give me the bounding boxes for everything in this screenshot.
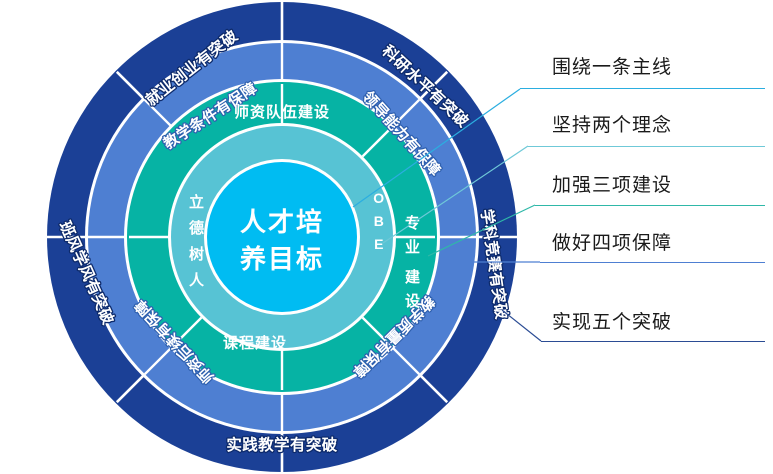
lideshuren-c1: 立 (189, 193, 205, 211)
legend-item-5[interactable]: 实现五个突破 (552, 307, 672, 334)
teal-label-faculty[interactable]: 师资队伍建设 (234, 103, 330, 121)
legend-rule-4 (540, 262, 765, 263)
obe-c3: E (374, 236, 384, 252)
legend-item-4[interactable]: 做好四项保障 (552, 228, 672, 255)
core-title-line2: 养目标 (239, 244, 324, 274)
legend-rule-2 (528, 146, 765, 147)
lideshuren-c4: 人 (189, 272, 205, 289)
obe-c2: B (374, 213, 385, 229)
core-circle-group (204, 159, 360, 315)
infographic-canvas: 就业创业有突破 科研水平有突破 学科竞赛有突破 实践教学有突破 班风学风有突破 (0, 0, 773, 474)
legend-item-3[interactable]: 加强三项建设 (552, 170, 672, 197)
leader-line-5 (502, 310, 541, 341)
lideshuren-c2: 德 (189, 219, 205, 237)
teal-label-major-c2: 业 (405, 239, 421, 256)
outer-label-practice[interactable]: 实践教学有突破 (226, 435, 337, 454)
legend-rule-5 (541, 341, 765, 342)
obe-c1: O (373, 190, 384, 206)
legend-rule-1 (520, 88, 765, 89)
teal-label-curriculum-text[interactable]: 课程建设 (223, 334, 287, 352)
core-title-line1: 人才培 (240, 207, 324, 237)
core-disc (207, 162, 357, 312)
teal-label-major-c4: 设 (405, 293, 421, 310)
lideshuren-c3: 树 (189, 245, 205, 263)
legend-item-1[interactable]: 围绕一条主线 (552, 52, 672, 79)
outer-label-practice-text: 实践教学有突破 (226, 435, 337, 454)
legend-rule-3 (535, 205, 765, 206)
legend-item-2[interactable]: 坚持两个理念 (552, 110, 672, 137)
teal-label-major-c3: 建 (405, 268, 421, 286)
